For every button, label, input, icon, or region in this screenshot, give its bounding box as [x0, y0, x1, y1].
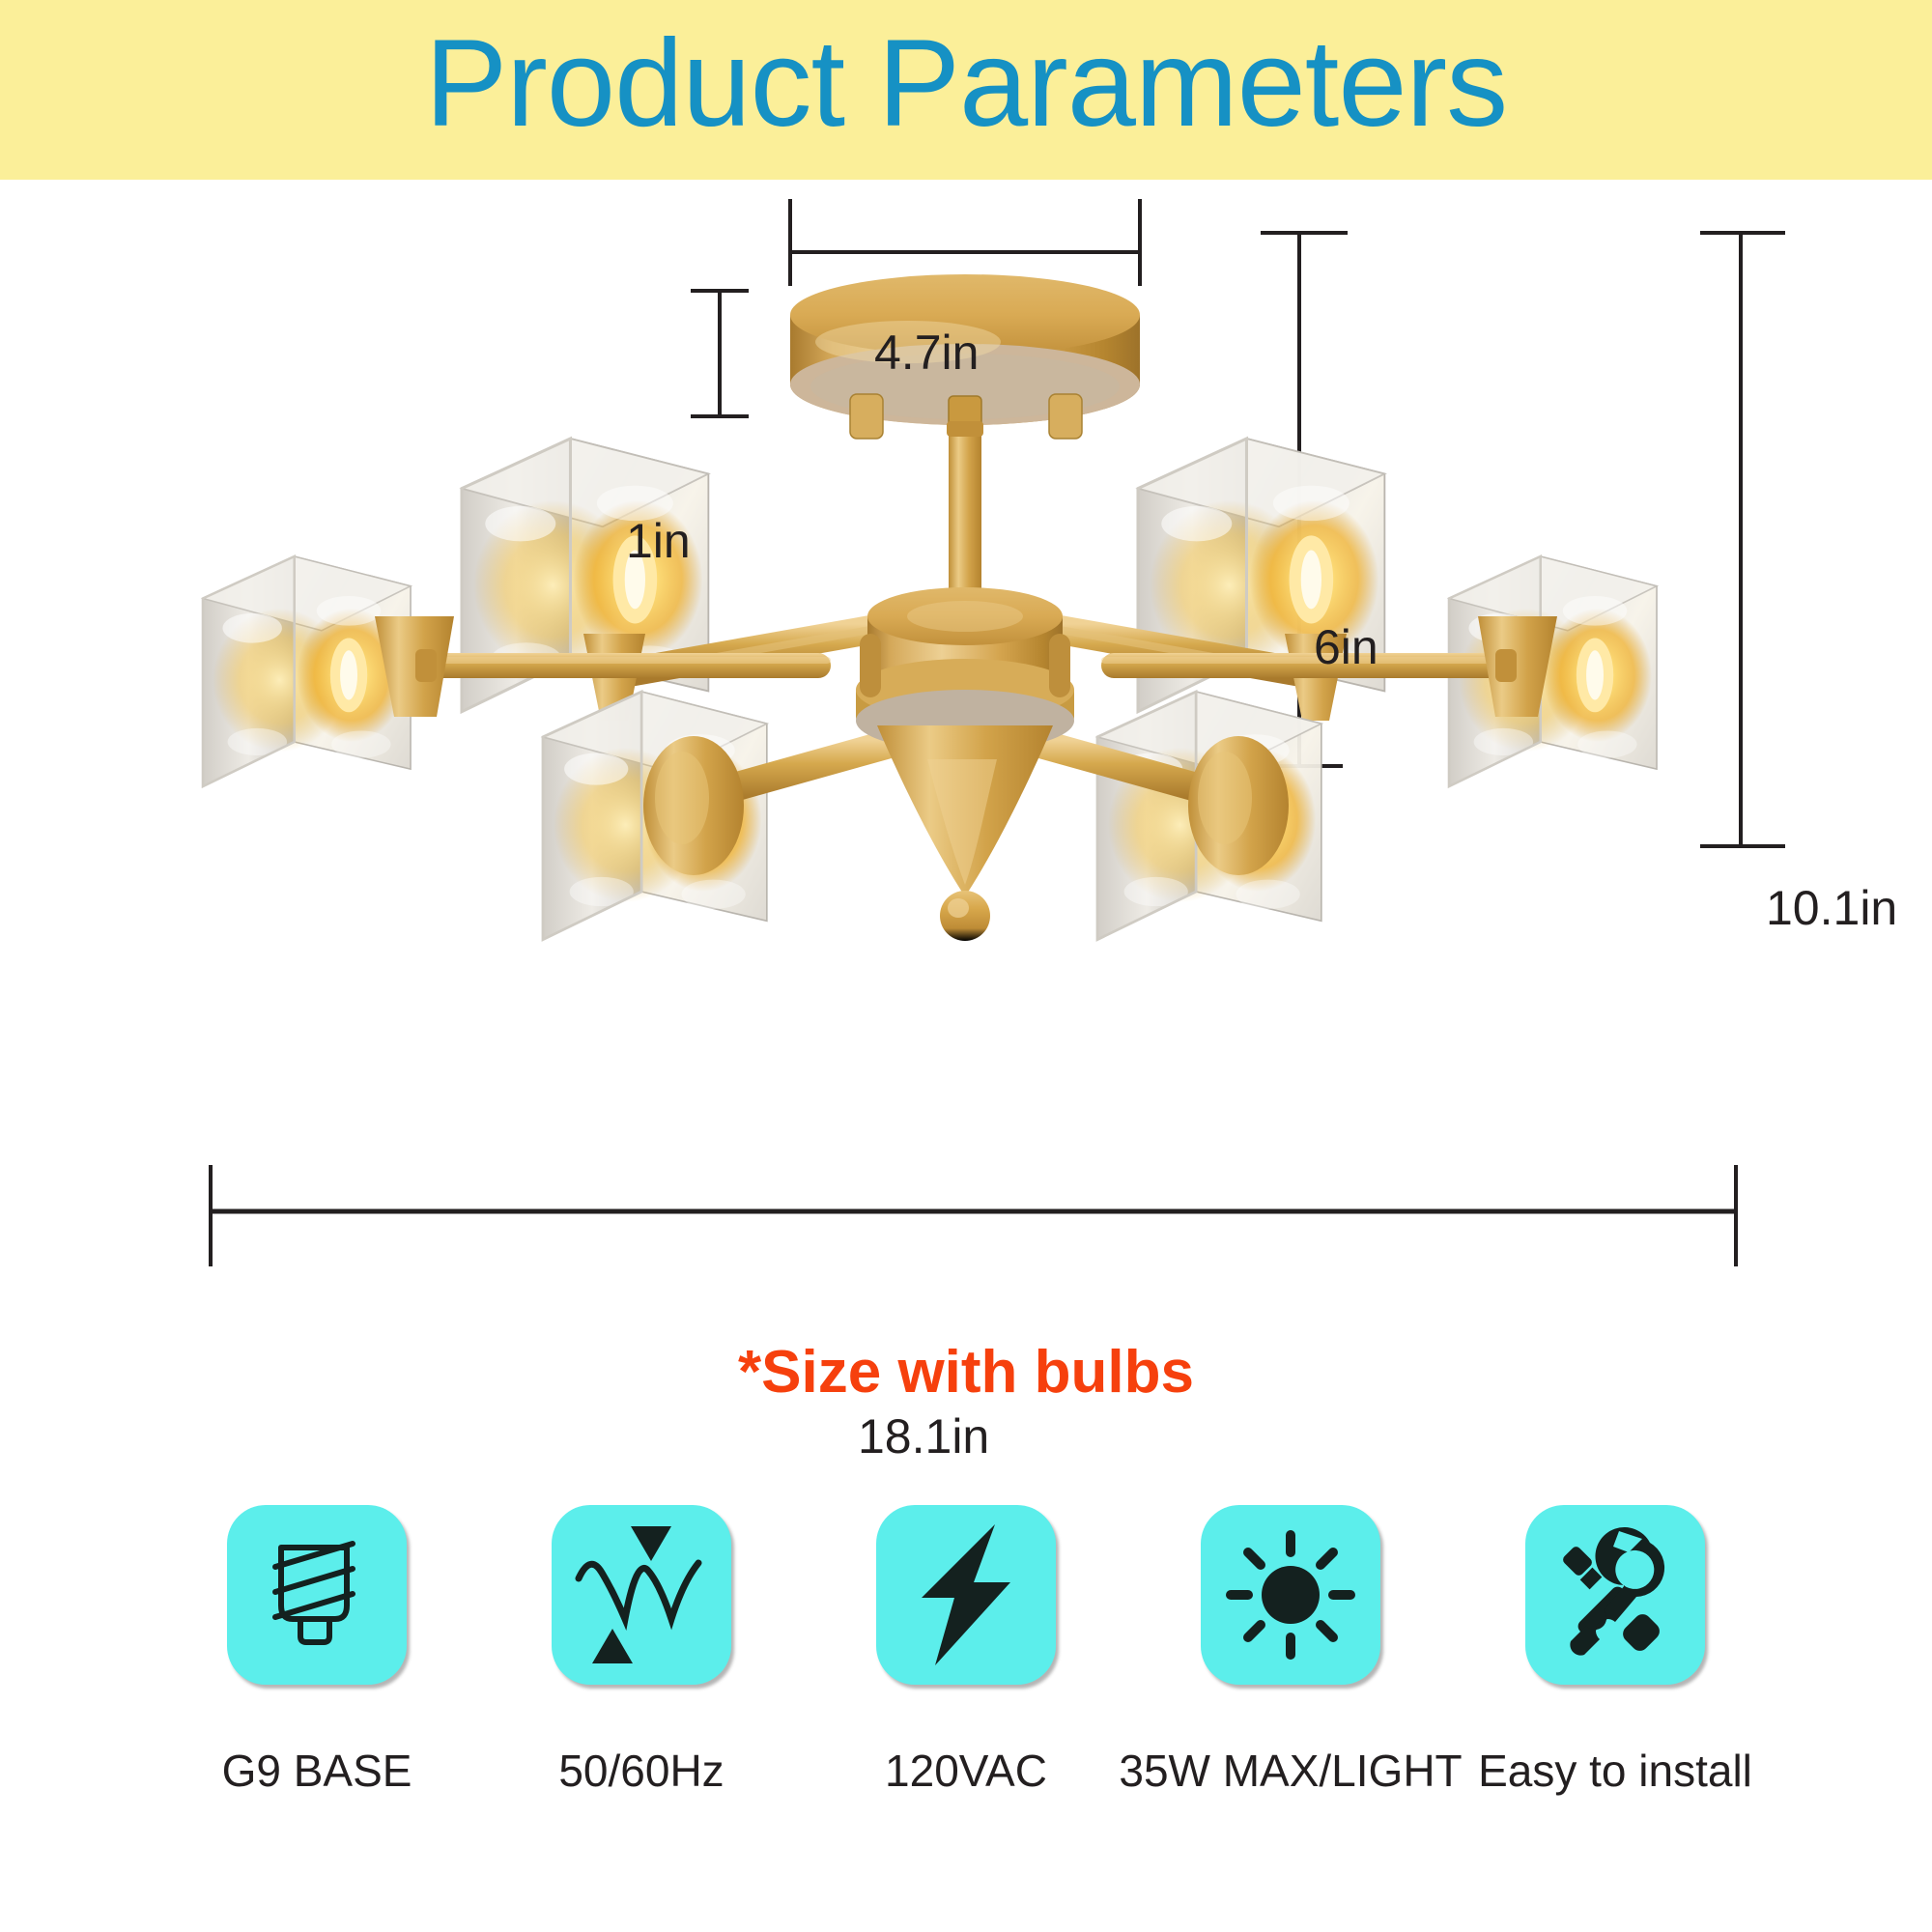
feature-item-g9-base: G9 BASE: [155, 1505, 479, 1797]
feature-tile: [552, 1505, 731, 1685]
dimension-label-canopy-width: 4.7in: [874, 325, 979, 381]
sun-brightness-icon: [1223, 1527, 1358, 1662]
feature-label: G9 BASE: [222, 1745, 412, 1797]
dimension-label-shade-drop: 6in: [1314, 619, 1378, 675]
bulb-base-icon: [254, 1532, 380, 1658]
feature-tile: [1525, 1505, 1705, 1685]
feature-tile: [1201, 1505, 1380, 1685]
feature-label: 120VAC: [885, 1745, 1047, 1797]
feature-item-wattage: 35W MAX/LIGHT: [1128, 1505, 1453, 1797]
header-banner: Product Parameters: [0, 0, 1932, 180]
feature-row: G9 BASE 50/60Hz 120VAC: [0, 1505, 1932, 1797]
feature-tile: [227, 1505, 407, 1685]
dimension-label-canopy-height: 1in: [626, 513, 691, 569]
feature-item-voltage: 120VAC: [804, 1505, 1128, 1797]
dimension-label-total-width: 18.1in: [858, 1408, 989, 1464]
feature-tile: [876, 1505, 1056, 1685]
frequency-wave-icon: [569, 1522, 714, 1667]
dimension-label-total-height: 10.1in: [1766, 880, 1897, 936]
tools-icon: [1548, 1527, 1683, 1662]
feature-label: 35W MAX/LIGHT: [1119, 1745, 1462, 1797]
feature-item-frequency: 50/60Hz: [479, 1505, 804, 1797]
lightning-bolt-icon: [898, 1522, 1034, 1667]
feature-label: 50/60Hz: [558, 1745, 724, 1797]
feature-item-install: Easy to install: [1453, 1505, 1777, 1797]
shade-left: [203, 556, 411, 786]
product-illustration: 4.7in 1in 6in 10.1in 18.1in: [0, 180, 1932, 1320]
feature-label: Easy to install: [1478, 1745, 1752, 1797]
size-note: *Size with bulbs: [0, 1338, 1932, 1406]
page-title: Product Parameters: [425, 22, 1507, 146]
